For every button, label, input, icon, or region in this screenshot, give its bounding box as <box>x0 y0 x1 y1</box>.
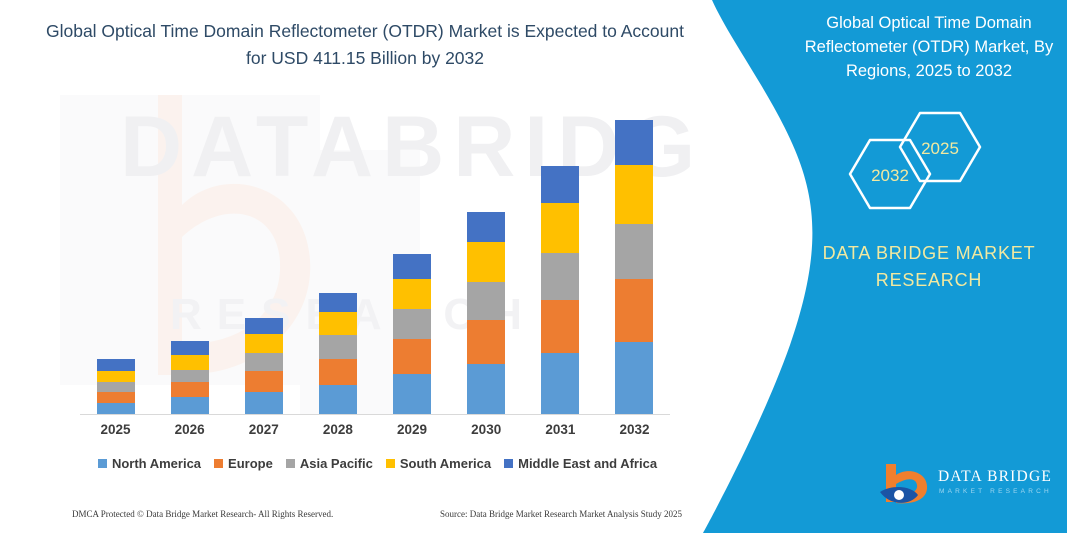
stacked-bar <box>615 120 653 415</box>
bar-segment <box>393 254 431 279</box>
x-axis-label: 2029 <box>377 422 448 437</box>
bar-segment <box>319 335 357 358</box>
stacked-bar <box>393 254 431 415</box>
bar-segment <box>541 353 579 415</box>
panel-title: Global Optical Time Domain Reflectometer… <box>800 12 1058 84</box>
x-axis-label: 2025 <box>80 422 151 437</box>
legend-swatch-icon <box>504 459 513 468</box>
bar-segment <box>541 300 579 354</box>
bar-group <box>377 110 448 415</box>
bar-segment <box>97 359 135 371</box>
legend-label: Asia Pacific <box>300 456 373 471</box>
bar-segment <box>615 279 653 342</box>
bar-segment <box>393 374 431 415</box>
bar-segment <box>393 309 431 339</box>
stacked-bar <box>97 359 135 415</box>
bar-segment <box>171 355 209 370</box>
bar-segment <box>615 165 653 224</box>
bar-segment <box>245 371 283 392</box>
x-axis-line <box>80 414 670 415</box>
legend-swatch-icon <box>98 459 107 468</box>
bar-segment <box>615 120 653 165</box>
hexagon-2032-label: 2032 <box>871 166 909 185</box>
brand-line-2: RESEARCH <box>800 267 1058 294</box>
bar-segment <box>319 385 357 415</box>
bar-segment <box>171 397 209 415</box>
bar-segment <box>615 342 653 415</box>
brand-line-1: DATA BRIDGE MARKET <box>800 240 1058 267</box>
bar-segment <box>171 370 209 382</box>
logo-subtitle: MARKET RESEARCH <box>939 488 1052 495</box>
legend-swatch-icon <box>386 459 395 468</box>
x-axis-label: 2031 <box>525 422 596 437</box>
stacked-bar <box>171 341 209 415</box>
footer-copyright: DMCA Protected © Data Bridge Market Rese… <box>72 509 333 519</box>
x-axis-label: 2027 <box>228 422 299 437</box>
legend-label: North America <box>112 456 201 471</box>
bar-segment <box>393 339 431 373</box>
bar-group <box>525 110 596 415</box>
bar-segment <box>393 279 431 309</box>
bar-segment <box>319 293 357 312</box>
bar-segment <box>541 203 579 252</box>
hexagon-group: 2025 2032 <box>820 105 1040 215</box>
bar-segment <box>541 166 579 203</box>
brand-text: DATA BRIDGE MARKET RESEARCH <box>800 240 1058 294</box>
legend-label: South America <box>400 456 491 471</box>
bar-segment <box>97 382 135 392</box>
legend-swatch-icon <box>214 459 223 468</box>
x-axis-label: 2028 <box>302 422 373 437</box>
legend-label: Europe <box>228 456 273 471</box>
bar-segment <box>467 320 505 364</box>
x-axis-labels: 20252026202720282029203020312032 <box>80 422 670 437</box>
bar-segment <box>97 392 135 403</box>
bar-segment <box>245 392 283 415</box>
stacked-bar <box>245 318 283 416</box>
stacked-bar <box>319 293 357 415</box>
bar-group <box>451 110 522 415</box>
stacked-bar-chart <box>80 110 670 415</box>
legend-item[interactable]: Middle East and Africa <box>504 456 657 471</box>
x-axis-label: 2030 <box>451 422 522 437</box>
bar-group <box>599 110 670 415</box>
bar-segment <box>615 224 653 279</box>
bar-group <box>228 110 299 415</box>
bar-segment <box>319 359 357 385</box>
bar-segment <box>467 212 505 242</box>
bar-segment <box>171 341 209 355</box>
bar-segment <box>319 312 357 335</box>
bar-segment <box>541 253 579 300</box>
bar-segment <box>171 382 209 397</box>
stacked-bar <box>467 212 505 415</box>
bar-segment <box>467 364 505 415</box>
x-axis-label: 2032 <box>599 422 670 437</box>
bar-segment <box>245 353 283 371</box>
bar-group <box>154 110 225 415</box>
legend-item[interactable]: Asia Pacific <box>286 456 373 471</box>
footer-source: Source: Data Bridge Market Research Mark… <box>440 509 682 519</box>
infographic-canvas: DATABRIDGE RESEARCH Global Optical Time … <box>0 0 1067 533</box>
page-title: Global Optical Time Domain Reflectometer… <box>40 18 690 72</box>
x-axis-label: 2026 <box>154 422 225 437</box>
data-bridge-mark-icon <box>878 462 936 510</box>
legend-swatch-icon <box>286 459 295 468</box>
legend-label: Middle East and Africa <box>518 456 657 471</box>
legend-item[interactable]: South America <box>386 456 491 471</box>
chart-plot-area <box>80 110 670 415</box>
bar-segment <box>467 282 505 320</box>
hexagon-2025-label: 2025 <box>921 139 959 158</box>
footer: DMCA Protected © Data Bridge Market Rese… <box>72 509 682 519</box>
bar-segment <box>467 242 505 282</box>
bar-group <box>80 110 151 415</box>
legend-item[interactable]: North America <box>98 456 201 471</box>
chart-legend: North AmericaEuropeAsia PacificSouth Ame… <box>80 456 675 471</box>
bar-segment <box>245 334 283 353</box>
logo-wordmark: DATA BRIDGE <box>938 468 1052 486</box>
stacked-bar <box>541 166 579 415</box>
legend-item[interactable]: Europe <box>214 456 273 471</box>
bar-group <box>302 110 373 415</box>
bar-segment <box>97 371 135 382</box>
bar-segment <box>245 318 283 334</box>
data-bridge-logo: DATA BRIDGE MARKET RESEARCH <box>878 462 1058 512</box>
